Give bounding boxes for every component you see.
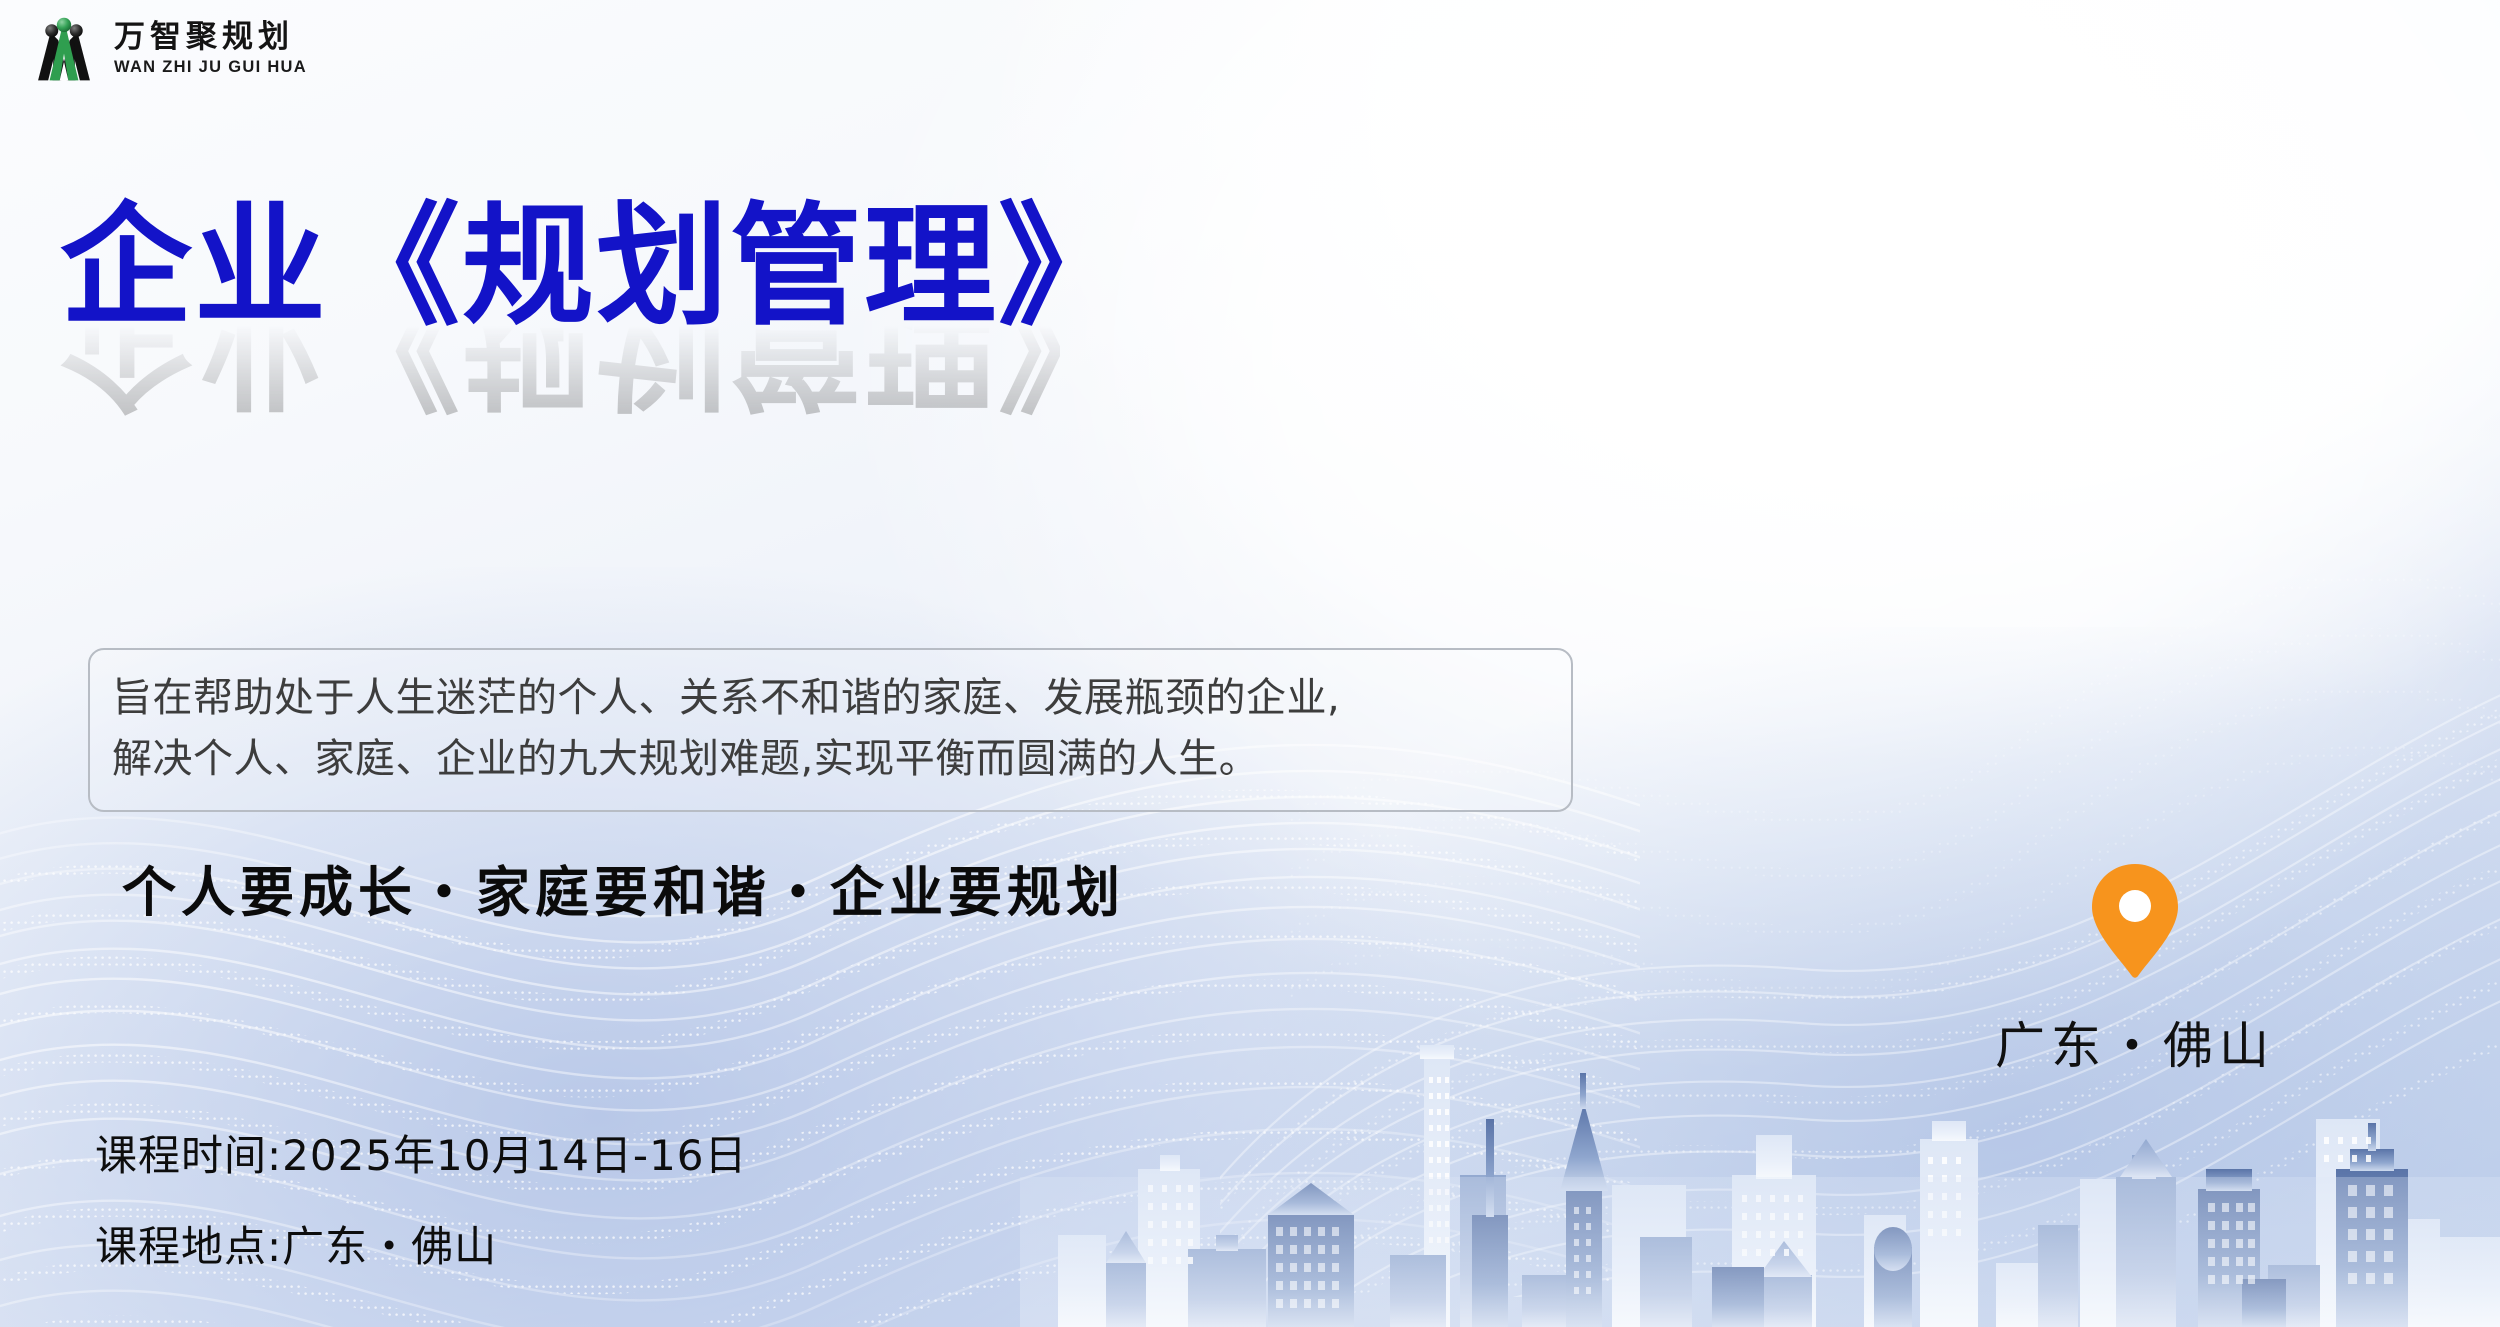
poster-canvas: 万智聚规划 WAN ZHI JU GUI HUA 企业《规划管理》 企业《规划管… xyxy=(0,0,2500,1327)
tagline: 个人要成长・家庭要和谐・企业要规划 xyxy=(122,848,1125,927)
description-box: 旨在帮助处于人生迷茫的个人、关系不和谐的家庭、发展瓶颈的企业, 解决个人、家庭、… xyxy=(88,648,1573,812)
brand-logo[interactable]: 万智聚规划 WAN ZHI JU GUI HUA xyxy=(28,14,307,82)
page-title-reflection: 企业《规划管理》 xyxy=(60,305,1060,417)
three-people-mark-icon xyxy=(28,14,100,82)
brand-name-cn: 万智聚规划 xyxy=(114,21,307,52)
course-time-line: 课程时间:2025年10月14日-16日 xyxy=(95,1122,748,1183)
brand-text: 万智聚规划 WAN ZHI JU GUI HUA xyxy=(114,21,307,76)
brand-name-en: WAN ZHI JU GUI HUA xyxy=(114,59,307,76)
course-place-line: 课程地点:广东・佛山 xyxy=(95,1213,748,1274)
description-line-2: 解决个人、家庭、企业的九大规划难题,实现平衡而圆满的人生。 xyxy=(112,729,1549,790)
course-meta: 课程时间:2025年10月14日-16日 课程地点:广东・佛山 xyxy=(95,1122,748,1274)
map-pin-icon xyxy=(2089,862,2181,980)
location-label: 广东・佛山 xyxy=(1955,1006,2315,1078)
location-block: 广东・佛山 xyxy=(1955,862,2315,1078)
description-line-1: 旨在帮助处于人生迷茫的个人、关系不和谐的家庭、发展瓶颈的企业, xyxy=(112,668,1549,729)
hero-title-block: 企业《规划管理》 企业《规划管理》 xyxy=(60,196,1060,417)
